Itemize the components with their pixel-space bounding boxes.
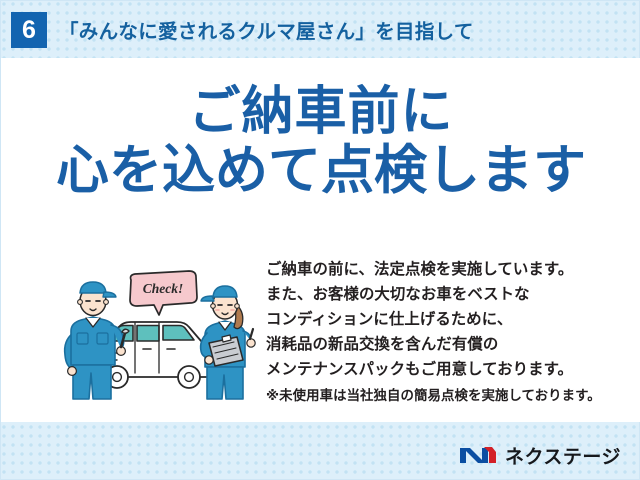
headline-line-2: 心を込めて点検します bbox=[1, 141, 640, 200]
brand-logo-text: ネクステージ bbox=[505, 442, 621, 469]
body-note: ※未使用車は当社独自の簡易点検を実施しております。 bbox=[266, 385, 626, 407]
body-line-1: ご納車の前に、法定点検を実施しています。 bbox=[266, 258, 626, 283]
body-line-2: また、お客様の大切なお車をベストな bbox=[266, 283, 626, 308]
page-root: 6 「みんなに愛されるクルマ屋さん」を目指して ご納車前に 心を込めて点検します… bbox=[0, 0, 640, 480]
header-title: 「みんなに愛されるクルマ屋さん」を目指して bbox=[59, 15, 474, 44]
body-line-4: 消耗品の新品交換を含んだ有償の bbox=[266, 333, 626, 358]
nextage-n-mark-icon bbox=[458, 443, 498, 467]
section-number-badge: 6 bbox=[11, 12, 47, 48]
body-line-5: メンテナンスパックもご用意しております。 bbox=[266, 358, 626, 383]
mechanics-illustration: Check! bbox=[59, 261, 259, 401]
speech-bubble-label: Check! bbox=[143, 281, 184, 296]
check-speech-bubble: Check! bbox=[130, 271, 197, 315]
content-panel: ご納車前に 心を込めて点検します ご納車の前に、法定点検を実施しています。 また… bbox=[1, 58, 640, 422]
body-copy: ご納車の前に、法定点検を実施しています。 また、お客様の大切なお車をベストな コ… bbox=[266, 258, 626, 406]
brand-logo: ネクステージ bbox=[458, 441, 621, 469]
section-header: 6 「みんなに愛されるクルマ屋さん」を目指して bbox=[1, 1, 640, 58]
headline-line-1: ご納車前に bbox=[1, 83, 640, 141]
page-title: ご納車前に 心を込めて点検します bbox=[1, 83, 640, 201]
body-line-3: コンディションに仕上げるために、 bbox=[266, 308, 626, 333]
mechanic-right bbox=[201, 286, 256, 399]
